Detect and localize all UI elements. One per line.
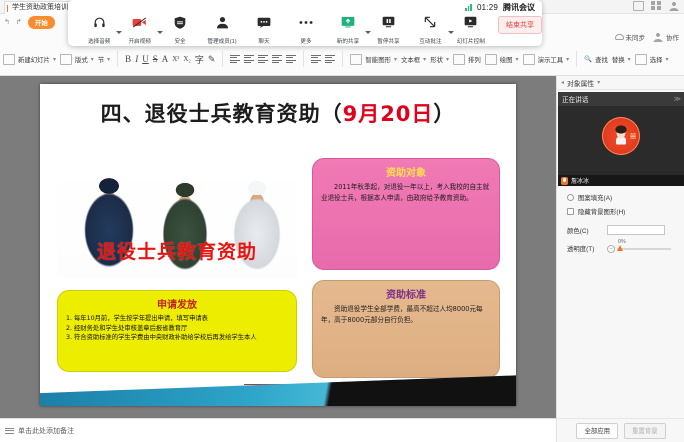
align-right-icon[interactable] [258, 55, 268, 64]
replace-label: 替换 [612, 55, 625, 64]
speaking-status: 正在讲话 [562, 94, 588, 104]
more-button[interactable]: 更多 [289, 14, 323, 48]
slide-control-button[interactable]: 幻灯片控制 [454, 14, 488, 48]
chat-icon [247, 14, 281, 30]
chevron-down-icon[interactable]: ▾ [665, 56, 668, 63]
undo-icon[interactable]: ↰ [4, 18, 10, 26]
presentation-tools-icon [523, 54, 535, 65]
italic-icon[interactable]: I [135, 54, 138, 64]
chat-label: 聊天 [258, 39, 269, 45]
sync-status[interactable]: 未同步 [615, 32, 646, 42]
arrange-group[interactable]: 排列 [453, 54, 481, 65]
slider-thumb[interactable] [617, 245, 623, 251]
notes-bar[interactable]: 单击此处添加备注 [0, 418, 556, 442]
textbox-group[interactable]: 文本框 ▾ [401, 55, 426, 64]
color-row: 颜色(C) [567, 225, 678, 235]
wps-meeting-screen: 学生资助政策培训 ↰ ↱ 开始 未同步 协作 新建幻灯片 [0, 0, 684, 442]
members-icon [205, 14, 239, 30]
avatar-icon: 囍 [602, 117, 640, 155]
participant-name: 詹冰冰 [571, 176, 589, 185]
collapse-icon[interactable]: ◂ [561, 79, 564, 86]
decrease-icon[interactable]: − [607, 245, 615, 253]
apply-all-button[interactable]: 全部应用 [576, 423, 618, 439]
pattern-fill-label: 图案填充(A) [578, 193, 612, 202]
align-left-icon[interactable] [230, 55, 240, 64]
person-icon[interactable] [669, 1, 680, 11]
layout-label: 版式 [75, 55, 88, 64]
replace-group[interactable]: 替换 ▾ [612, 55, 631, 64]
color-swatch[interactable] [607, 225, 665, 235]
slide-title-date: 9月20日 [343, 102, 434, 126]
participant-name-bar: 詹冰冰 [558, 175, 684, 186]
pause-share-button[interactable]: 暂停共享 [371, 14, 405, 48]
cloud-icon [615, 34, 624, 40]
meeting-status-bar: 01:29 腾讯会议 [465, 1, 535, 14]
application-process-title: 申请发放 [66, 296, 288, 311]
signal-icon [465, 4, 472, 11]
funding-target-body: 2011年秋季起，对退役一年以上，考入我校的自主就业退役士兵，根据本人申请，由政… [321, 182, 491, 203]
cursor-select-icon [635, 54, 647, 65]
chevron-down-icon[interactable]: ▾ [516, 56, 519, 63]
transparency-row: 透明度(T) − 0% [567, 244, 678, 253]
funding-target-title: 资助对象 [321, 164, 491, 179]
draw-label: 绘图 [500, 55, 513, 64]
video-tile-header: 正在讲话 ≫ [558, 92, 684, 106]
color-label: 颜色(C) [567, 226, 607, 235]
new-slide-group[interactable]: 新建幻灯片 ▾ [3, 54, 56, 65]
hide-background-checkbox[interactable] [567, 208, 574, 215]
underline-icon[interactable]: U [142, 54, 149, 64]
share-screen-icon [331, 14, 365, 30]
object-properties-panel: ◂ 对象属性 ▾ 正在讲话 ≫ 囍 詹冰冰 图案填充(A) [556, 76, 684, 442]
transparency-slider[interactable]: − 0% [607, 245, 671, 253]
chevron-down-icon[interactable]: ▾ [566, 56, 569, 63]
presentation-tools-label: 演示工具 [538, 55, 564, 64]
subscript-icon[interactable]: X₂ [183, 55, 191, 63]
slide-canvas-area[interactable]: 四、退役士兵教育资助（9月20日） 退役士兵教育资助 资助对象 2011年秋季起… [0, 76, 556, 418]
shape-group[interactable]: 形状 ▾ [430, 55, 449, 64]
tencent-meeting-toolbar: 01:29 腾讯会议 选择音频 开启视频 [68, 0, 542, 46]
new-share-label: 新的共享 [337, 39, 359, 45]
headset-icon [82, 14, 116, 30]
line-spacing-icon[interactable] [286, 55, 296, 64]
audio-label: 选择音频 [88, 39, 110, 45]
sync-status-label: 未同步 [626, 32, 646, 42]
video-tile[interactable]: 正在讲话 ≫ 囍 詹冰冰 [558, 92, 684, 186]
chevron-down-icon[interactable]: ▾ [628, 56, 631, 63]
chevron-down-icon[interactable]: ▾ [53, 56, 56, 63]
members-button[interactable]: 管理成员(1) [205, 14, 239, 48]
camera-off-icon [122, 14, 156, 30]
align-center-icon[interactable] [244, 55, 254, 64]
collab-label: 协作 [666, 32, 679, 42]
meeting-app-name: 腾讯会议 [503, 2, 535, 13]
section-label: 节 [98, 55, 104, 64]
start-tab[interactable]: 开始 [28, 16, 55, 29]
meeting-controls: 选择音频 开启视频 安全 管理成员(1) [68, 14, 542, 46]
divider [342, 51, 343, 67]
layout-group[interactable]: 版式 ▾ [60, 54, 94, 65]
divider [222, 51, 223, 67]
draw-group[interactable]: 绘图 ▾ [485, 54, 519, 65]
chevron-down-icon[interactable]: ▾ [423, 56, 426, 63]
strikethrough-icon[interactable]: S [153, 54, 158, 64]
chevron-down-icon[interactable]: ▾ [446, 56, 449, 63]
chevron-down-icon[interactable]: ▾ [107, 56, 110, 63]
annotate-label: 互动批注 [419, 39, 441, 45]
textbox-label: 文本框 [401, 55, 420, 64]
document-tab[interactable]: 学生资助政策培训 [4, 1, 74, 14]
annotate-button[interactable]: 互动批注 [413, 14, 447, 48]
new-slide-icon [3, 54, 15, 65]
chevron-down-icon[interactable]: ▾ [91, 56, 94, 63]
funding-standard-title: 资助标准 [321, 286, 491, 301]
superscript-icon[interactable]: X² [172, 55, 179, 63]
funding-target-box[interactable]: 资助对象 2011年秋季起，对退役一年以上，考入我校的自主就业退役士兵，根据本人… [312, 158, 500, 270]
audio-button[interactable]: 选择音频 [82, 14, 116, 48]
more-icon [289, 14, 323, 30]
pause-icon [371, 14, 405, 30]
hide-background-label: 隐藏背景图形(H) [578, 207, 625, 216]
funding-standard-body: 资助退役学生全部学费，最高不超过人均8000元每年，高于8000元部分自行负担。 [321, 304, 491, 325]
end-share-button[interactable]: 结束共享 [498, 16, 542, 34]
divider [576, 51, 577, 67]
avatar-face [614, 126, 629, 145]
search-icon: 🔍 [584, 55, 592, 63]
chevron-down-icon[interactable]: ▾ [394, 56, 397, 63]
annotate-icon [413, 14, 447, 30]
slide[interactable]: 四、退役士兵教育资助（9月20日） 退役士兵教育资助 资助对象 2011年秋季起… [40, 84, 516, 406]
pattern-fill-option[interactable]: 图案填充(A) [567, 193, 678, 202]
members-label: 管理成员(1) [207, 39, 236, 45]
grid-icon[interactable] [651, 1, 662, 11]
find-label: 查找 [595, 55, 608, 64]
smartart-group[interactable]: 智能图形 ▾ [350, 54, 397, 65]
new-share-button[interactable]: 新的共享 [331, 14, 365, 48]
tabstrip-right-icons [633, 1, 680, 11]
divider [303, 51, 304, 67]
ribbon-commands: 新建幻灯片 ▾ 版式 ▾ 节 ▾ B I U S A X² X₂ 字 ✎ [0, 44, 684, 74]
hide-background-option[interactable]: 隐藏背景图形(H) [567, 207, 678, 216]
view-icon[interactable] [633, 1, 644, 11]
mic-icon [561, 177, 568, 185]
smartart-label: 智能图形 [365, 55, 391, 64]
slide-title-main: 四、退役士兵教育资助（ [101, 102, 343, 126]
divider [117, 51, 118, 67]
collab-person-icon [653, 32, 664, 42]
pause-share-label: 暂停共享 [377, 39, 399, 45]
slide-title[interactable]: 四、退役士兵教育资助（9月20日） [56, 98, 500, 128]
section-group[interactable]: 节 ▾ [98, 55, 110, 64]
chat-button[interactable]: 聊天 [247, 14, 281, 48]
numbered-list-icon[interactable] [325, 55, 335, 64]
text-color-icon[interactable]: A [162, 54, 169, 64]
smartart-icon [350, 54, 362, 65]
shield-icon [163, 14, 197, 30]
video-button[interactable]: 开启视频 [122, 14, 156, 48]
chevron-down-icon[interactable]: ▾ [597, 79, 600, 86]
reset-background-button[interactable]: 重置背景 [624, 423, 666, 439]
panel-footer: 全部应用 重置背景 [557, 418, 684, 442]
meeting-timer: 01:29 [477, 3, 498, 12]
find-group[interactable]: 🔍 查找 [584, 55, 608, 64]
redo-icon[interactable]: ↱ [16, 18, 22, 26]
properties-list: 图案填充(A) 隐藏背景图形(H) 颜色(C) 透明度(T) − 0% [557, 186, 684, 253]
presentation-tools-group[interactable]: 演示工具 ▾ [523, 54, 570, 65]
slide-control-label: 幻灯片控制 [457, 39, 485, 45]
notes-placeholder: 单击此处添加备注 [18, 426, 74, 436]
draw-icon [485, 54, 497, 65]
photo-overlay-text: 退役士兵教育资助 [57, 237, 297, 264]
shape-label: 形状 [430, 55, 443, 64]
slide-control-icon [454, 14, 488, 30]
arrange-icon [453, 54, 465, 65]
panel-title: 对象属性 [567, 78, 594, 88]
slider-track[interactable]: 0% [617, 248, 671, 250]
bold-icon[interactable]: B [125, 54, 131, 64]
application-process-box[interactable]: 申请发放 1. 每年10月前，学生按学年提出申请，填写申请表 2. 经财务处和学… [57, 290, 297, 372]
character-icon[interactable]: 字 [195, 53, 204, 66]
select-label: 选择 [650, 55, 663, 64]
notes-icon [5, 428, 14, 434]
avatar-mark: 囍 [630, 132, 636, 141]
transparency-label: 透明度(T) [567, 244, 607, 253]
ribbon-right-actions: 未同步 协作 [615, 32, 680, 42]
highlighter-icon[interactable]: ✎ [208, 54, 216, 65]
soldiers-photo[interactable]: 退役士兵教育资助 [57, 156, 297, 278]
panel-title-bar[interactable]: ◂ 对象属性 ▾ [557, 76, 684, 90]
more-label: 更多 [300, 39, 311, 45]
bullet-list-icon[interactable] [311, 55, 321, 64]
slide-title-close: ） [433, 102, 455, 126]
layout-icon [60, 54, 72, 65]
security-label: 安全 [174, 39, 185, 45]
security-button[interactable]: 安全 [163, 14, 197, 48]
funding-standard-box[interactable]: 资助标准 资助退役学生全部学费，最高不超过人均8000元每年，高于8000元部分… [312, 280, 500, 378]
expand-icon[interactable]: ≫ [674, 95, 680, 103]
collab-button[interactable]: 协作 [653, 32, 679, 42]
new-slide-label: 新建幻灯片 [18, 55, 50, 64]
video-label: 开启视频 [128, 39, 150, 45]
pattern-fill-radio[interactable] [567, 194, 574, 201]
justify-icon[interactable] [272, 55, 282, 64]
select-group[interactable]: 选择 ▾ [635, 54, 669, 65]
application-process-body: 1. 每年10月前，学生按学年提出申请，填写申请表 2. 经财务处和学生处审核盖… [66, 314, 288, 343]
arrange-label: 排列 [468, 55, 481, 64]
